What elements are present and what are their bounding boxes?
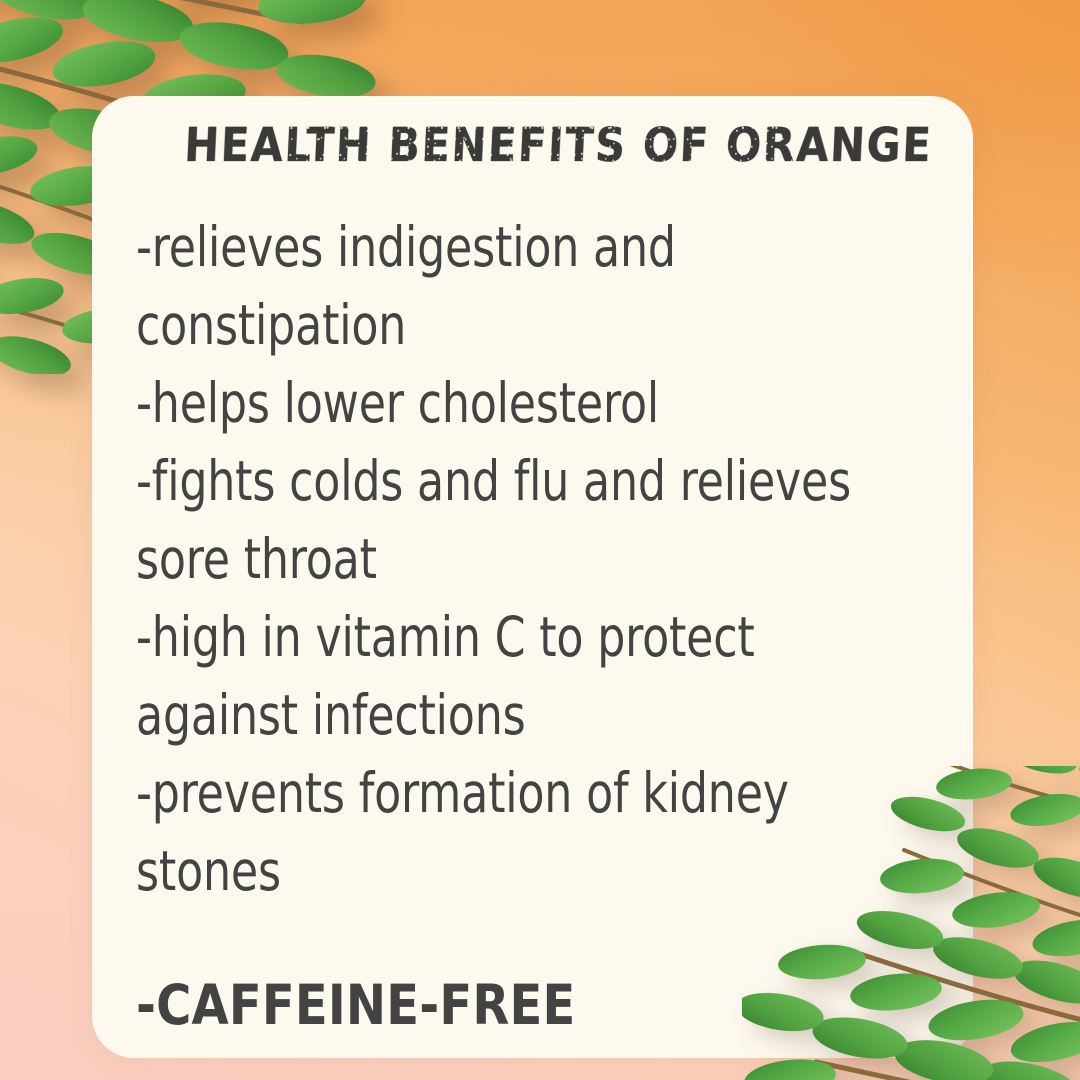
card-inner: HEALTH BENEFITS OF ORANGE -relieves indi… [136,96,943,1058]
poster-canvas: HEALTH BENEFITS OF ORANGE -relieves indi… [0,0,1080,1080]
benefit-line: -prevents formation of kidney [136,754,858,832]
benefit-line: stones [136,832,858,910]
benefit-line: -relieves indigestion and [136,208,858,286]
caffeine-free-callout: -CAFFEINE-FREE [136,966,919,1044]
benefit-line: -fights colds and flu and relieves [136,442,858,520]
benefit-line: -high in vitamin C to protect [136,598,858,676]
benefit-line: sore throat [136,520,858,598]
list-spacer [136,910,943,966]
benefit-line: constipation [136,286,858,364]
page-title: HEALTH BENEFITS OF ORANGE [183,118,896,173]
benefits-list: -relieves indigestion and constipation -… [136,208,943,1044]
frond-group-a [0,0,379,104]
benefit-line: against infections [136,676,858,754]
content-card: HEALTH BENEFITS OF ORANGE -relieves indi… [92,96,973,1058]
benefit-line: -helps lower cholesterol [136,364,858,442]
